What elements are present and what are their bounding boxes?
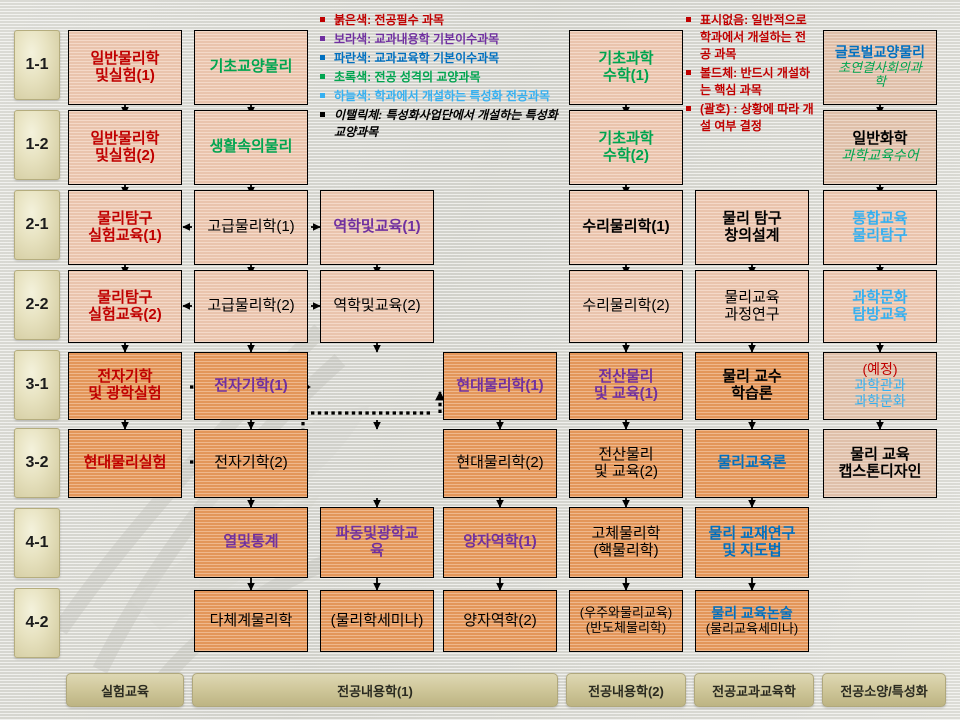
course-node-global-liberal-physics[interactable]: 글로벌교양물리 초연결사회의과 학 [823, 30, 937, 105]
node-line: 양자역학(2) [446, 613, 554, 630]
legend-item: 보라색: 교과내용학 기본이수과목 [320, 31, 570, 48]
course-node-physics-inquiry-creative-design[interactable]: 물리 탐구 창의설계 [695, 190, 809, 265]
node-line: 및실험(2) [71, 148, 179, 165]
node-line: 탐방교육 [826, 307, 934, 324]
legend-bullet-icon [686, 70, 691, 75]
node-line: (우주와물리교육) [572, 606, 680, 621]
node-line: 실험교육(2) [71, 307, 179, 324]
node-line: 수학(1) [572, 68, 680, 85]
course-node-physics-in-life[interactable]: 생활속의물리 [194, 110, 308, 185]
node-line: 물리교육론 [698, 455, 806, 472]
node-line: 통합교육 [826, 211, 934, 228]
node-line: 생활속의물리 [197, 139, 305, 156]
legend-item: 붉은색: 전공필수 과목 [320, 12, 570, 29]
course-node-physics-seminar[interactable]: (물리학세미나) [320, 590, 434, 652]
node-line: 고급물리학(1) [197, 219, 305, 236]
term-label-1-1: 1-1 [14, 30, 60, 100]
course-node-mechanics-edu-1[interactable]: 역학및교육(1) [320, 190, 434, 265]
node-line: 및 교육(1) [572, 386, 680, 403]
course-node-physics-inquiry-lab-edu-1[interactable]: 물리탐구 실험교육(1) [68, 190, 182, 265]
course-node-general-chemistry[interactable]: 일반화학 과학교육수어 [823, 110, 937, 185]
node-line: 고체물리학 [572, 526, 680, 543]
node-line: (물리교육세미나) [698, 622, 806, 637]
term-label-3-1: 3-1 [14, 350, 60, 420]
legend-item: 하늘색: 학과에서 개설하는 특성화 전공과목 [320, 88, 570, 105]
course-node-physics-material-research-teaching[interactable]: 물리 교재연구 및 지도법 [695, 507, 809, 578]
node-line: 및 지도법 [698, 543, 806, 560]
legend-notation-key: 표시없음: 일반적으로 학과에서 개설하는 전공 과목 볼드체: 반드시 개설하… [686, 12, 814, 137]
node-line: 물리교육 [698, 290, 806, 307]
node-line: 물리탐구 [826, 228, 934, 245]
node-line: 물리 탐구 [698, 211, 806, 228]
legend-text: (괄호) : 상황에 따라 개설 여부 결정 [700, 101, 814, 135]
node-line: 및 교육(2) [572, 464, 680, 481]
node-line: 현대물리학(1) [446, 378, 554, 395]
node-line: 수리물리학(1) [572, 219, 680, 236]
course-node-electromagnetism-2[interactable]: 전자기학(2) [194, 429, 308, 498]
node-line: 전자기학(2) [197, 455, 305, 472]
course-node-advanced-physics-1[interactable]: 고급물리학(1) [194, 190, 308, 265]
course-node-physics-inquiry-lab-edu-2[interactable]: 물리탐구 실험교육(2) [68, 270, 182, 343]
node-line: 현대물리실험 [71, 455, 179, 472]
node-line: 창의설계 [698, 228, 806, 245]
term-label-2-1: 2-1 [14, 190, 60, 260]
course-node-general-physics-lab-2[interactable]: 일반물리학 및실험(2) [68, 110, 182, 185]
legend-bullet-icon [320, 93, 325, 98]
course-node-computational-physics-edu-1[interactable]: 전산물리 및 교육(1) [569, 352, 683, 420]
node-line: 수학(2) [572, 148, 680, 165]
legend-text: 파란색: 교과교육학 기본이수과목 [334, 50, 570, 67]
legend-text: 표시없음: 일반적으로 학과에서 개설하는 전공 과목 [700, 12, 814, 63]
category-chip-experiment-education[interactable]: 실험교육 [66, 673, 184, 707]
node-line: 물리 교수 [698, 369, 806, 386]
node-line: 캡스톤디자인 [826, 464, 934, 481]
category-chip-major-content-1[interactable]: 전공내용학(1) [192, 673, 558, 707]
node-line: 파동및광학교 [323, 526, 431, 543]
course-node-quantum-mechanics-1[interactable]: 양자역학(1) [443, 507, 557, 578]
course-node-mathematical-physics-1[interactable]: 수리물리학(1) [569, 190, 683, 265]
node-line: 기초과학 [572, 131, 680, 148]
term-label-4-1: 4-1 [14, 508, 60, 578]
node-line: 물리탐구 [71, 211, 179, 228]
category-chip-subject-pedagogy[interactable]: 전공교과교육학 [694, 673, 814, 707]
node-line: 전산물리 [572, 447, 680, 464]
term-label-3-2: 3-2 [14, 428, 60, 498]
node-line: 전자기학 [71, 369, 179, 386]
category-chip-major-literacy-specialization[interactable]: 전공소양/특성화 [822, 673, 946, 707]
node-line: 물리 교육논술 [698, 606, 806, 622]
category-chip-major-content-2[interactable]: 전공내용학(2) [566, 673, 686, 707]
node-line: 기초과학 [572, 51, 680, 68]
node-line: 현대물리학(2) [446, 455, 554, 472]
course-node-heat-statistics[interactable]: 열및통계 [194, 507, 308, 578]
node-line: 학 [826, 75, 934, 90]
node-line: 일반물리학 [71, 51, 179, 68]
node-line: 및실험(1) [71, 68, 179, 85]
node-line: 역학및교육(1) [323, 219, 431, 236]
term-label-2-2: 2-2 [14, 270, 60, 340]
node-line: (예정) [826, 362, 934, 378]
course-node-basic-science-math-1[interactable]: 기초과학 수학(1) [569, 30, 683, 105]
node-line: (반도체물리학) [572, 621, 680, 636]
legend-bullet-icon [686, 106, 691, 111]
node-line: 전산물리 [572, 369, 680, 386]
node-line: 실험교육(1) [71, 228, 179, 245]
course-node-physics-teaching-learning-theory[interactable]: 물리 교수 학습론 [695, 352, 809, 420]
node-line: 물리 교육 [826, 447, 934, 464]
node-line: 물리탐구 [71, 290, 179, 307]
term-label-1-2: 1-2 [14, 110, 60, 180]
legend-color-key: 붉은색: 전공필수 과목 보라색: 교과내용학 기본이수과목 파란색: 교과교육… [320, 12, 570, 143]
node-line: 일반화학 [826, 131, 934, 148]
node-line: (물리학세미나) [323, 613, 431, 630]
node-line: 물리 교재연구 [698, 526, 806, 543]
node-line: 과학문화 [826, 394, 934, 410]
legend-bullet-icon [320, 74, 325, 79]
course-node-advanced-physics-2[interactable]: 고급물리학(2) [194, 270, 308, 343]
node-line: 고급물리학(2) [197, 298, 305, 315]
node-line: (핵물리학) [572, 543, 680, 560]
node-line: 일반물리학 [71, 131, 179, 148]
course-node-solid-state-nuclear-physics[interactable]: 고체물리학 (핵물리학) [569, 507, 683, 578]
legend-text: 보라색: 교과내용학 기본이수과목 [334, 31, 570, 48]
course-node-physics-education-theory[interactable]: 물리교육론 [695, 429, 809, 498]
legend-bullet-icon [320, 36, 325, 41]
course-node-physics-education-essay-seminar[interactable]: 물리 교육논술 (물리교육세미나) [695, 590, 809, 652]
legend-item: 초록색: 전공 성격의 교양과목 [320, 69, 570, 86]
course-node-modern-physics-lab[interactable]: 현대물리실험 [68, 429, 182, 498]
node-line: 다체계물리학 [197, 613, 305, 630]
course-node-modern-physics-2[interactable]: 현대물리학(2) [443, 429, 557, 498]
legend-item: 표시없음: 일반적으로 학과에서 개설하는 전공 과목 [686, 12, 814, 63]
legend-text: 하늘색: 학과에서 개설하는 특성화 전공과목 [334, 88, 570, 105]
course-node-electromagnetism-1[interactable]: 전자기학(1) [194, 352, 308, 420]
node-line: 과학교육수어 [826, 148, 934, 164]
course-node-basic-liberal-physics[interactable]: 기초교양물리 [194, 30, 308, 105]
legend-text: 붉은색: 전공필수 과목 [334, 12, 570, 29]
node-line: 양자역학(1) [446, 534, 554, 551]
node-line: 역학및교육(2) [323, 298, 431, 315]
legend-text: 이탤릭체: 특성화사업단에서 개설하는 특성화 교양과목 [334, 107, 570, 141]
node-line: 전자기학(1) [197, 378, 305, 395]
course-node-mechanics-edu-2[interactable]: 역학및교육(2) [320, 270, 434, 343]
course-node-science-museum-and-culture[interactable]: (예정) 과학관과 과학문화 [823, 352, 937, 420]
node-line: 수리물리학(2) [572, 298, 680, 315]
course-node-general-physics-lab-1[interactable]: 일반물리학 및실험(1) [68, 30, 182, 105]
course-node-wave-optics-education[interactable]: 파동및광학교 육 [320, 507, 434, 578]
course-node-integrated-edu-physics-inquiry[interactable]: 통합교육 물리탐구 [823, 190, 937, 265]
node-line: 글로벌교양물리 [826, 45, 934, 61]
legend-text: 초록색: 전공 성격의 교양과목 [334, 69, 570, 86]
node-line: 열및통계 [197, 534, 305, 551]
course-node-space-semiconductor-physics[interactable]: (우주와물리교육) (반도체물리학) [569, 590, 683, 652]
course-node-many-body-physics[interactable]: 다체계물리학 [194, 590, 308, 652]
course-node-physics-curriculum-study[interactable]: 물리교육 과정연구 [695, 270, 809, 343]
legend-bullet-icon [320, 55, 325, 60]
legend-item: (괄호) : 상황에 따라 개설 여부 결정 [686, 101, 814, 135]
legend-text: 볼드체: 반드시 개설하는 핵심 과목 [700, 65, 814, 99]
legend-item: 이탤릭체: 특성화사업단에서 개설하는 특성화 교양과목 [320, 107, 570, 141]
node-line: 과학문화 [826, 290, 934, 307]
node-line: 기초교양물리 [197, 59, 305, 76]
course-node-basic-science-math-2[interactable]: 기초과학 수학(2) [569, 110, 683, 185]
course-node-quantum-mechanics-2[interactable]: 양자역학(2) [443, 590, 557, 652]
legend-bullet-icon [320, 17, 325, 22]
node-line: 육 [323, 543, 431, 560]
legend-bullet-icon [686, 17, 691, 22]
course-node-em-optics-lab[interactable]: 전자기학 및 광학실험 [68, 352, 182, 420]
node-line: 과학관과 [826, 378, 934, 394]
course-node-physics-education-capstone-design[interactable]: 물리 교육 캡스톤디자인 [823, 429, 937, 498]
course-node-modern-physics-1[interactable]: 현대물리학(1) [443, 352, 557, 420]
node-line: 초연결사회의과 [826, 61, 934, 76]
course-node-computational-physics-edu-2[interactable]: 전산물리 및 교육(2) [569, 429, 683, 498]
course-node-science-culture-field-education[interactable]: 과학문화 탐방교육 [823, 270, 937, 343]
legend-item: 볼드체: 반드시 개설하는 핵심 과목 [686, 65, 814, 99]
legend-bullet-icon [320, 112, 325, 117]
curriculum-flowchart-slide: 1-1 1-2 2-1 2-2 3-1 3-2 4-1 4-2 일반물리학 및실… [0, 0, 960, 720]
legend-item: 파란색: 교과교육학 기본이수과목 [320, 50, 570, 67]
node-line: 학습론 [698, 386, 806, 403]
node-line: 과정연구 [698, 307, 806, 324]
term-label-4-2: 4-2 [14, 588, 60, 658]
node-line: 및 광학실험 [71, 386, 179, 403]
course-node-mathematical-physics-2[interactable]: 수리물리학(2) [569, 270, 683, 343]
